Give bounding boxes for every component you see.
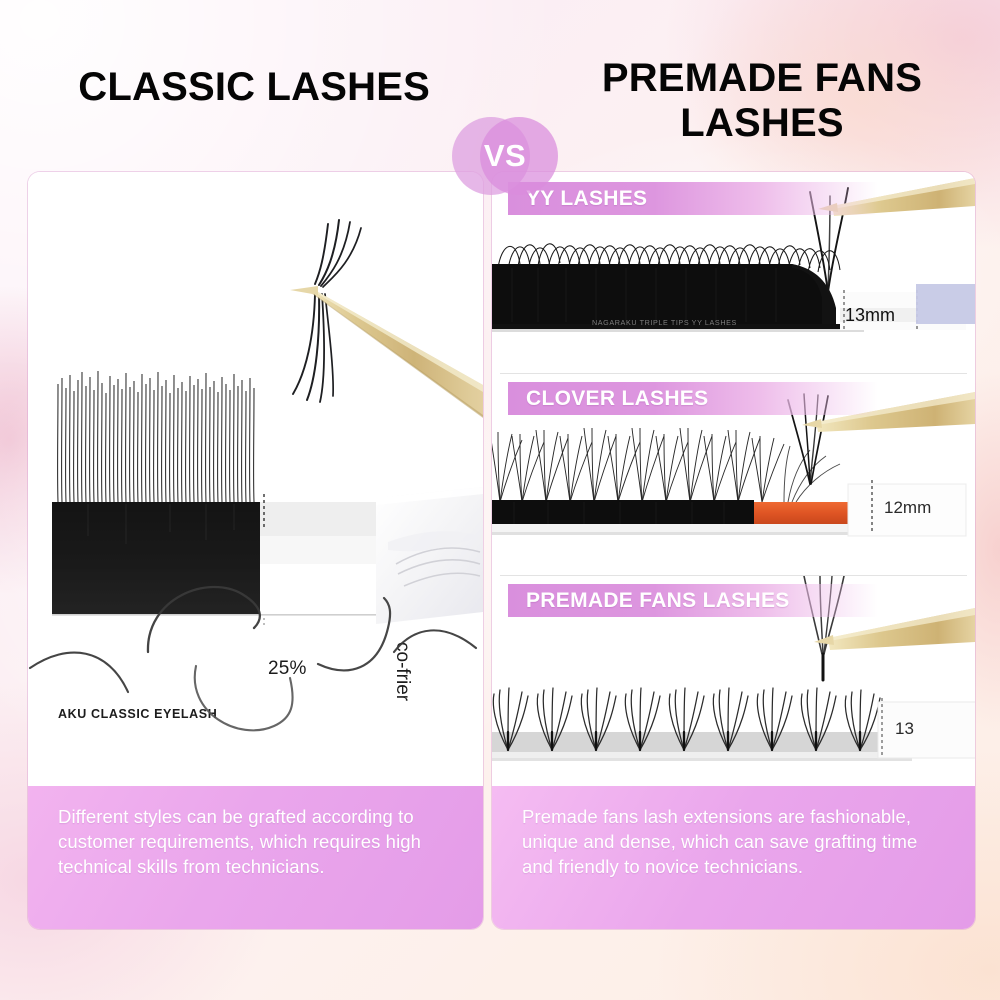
tray-brand-label: AKU CLASSIC EYELASH bbox=[58, 707, 217, 721]
premade-measure-sheet bbox=[878, 698, 975, 758]
vs-badge: VS bbox=[452, 117, 558, 195]
tweezers-with-lashes bbox=[290, 220, 483, 418]
title-premade-fans-lashes: PREMADE FANS LASHES bbox=[562, 56, 962, 146]
premade-fans-panel: NAGARAKU TRIPLE TIPS YY LASHES bbox=[492, 172, 975, 929]
classic-lash-tray bbox=[52, 371, 260, 614]
classic-lashes-photo: 25% AKU CLASSIC EYELASH co-frier bbox=[28, 172, 483, 786]
premade-strip-base bbox=[492, 732, 892, 754]
tag-clover-lashes-label: CLOVER LASHES bbox=[508, 387, 708, 411]
yy-strip-print: NAGARAKU TRIPLE TIPS YY LASHES bbox=[592, 318, 737, 327]
yy-lash-band bbox=[492, 244, 864, 332]
tag-premade-fans-lashes-label: PREMADE FANS LASHES bbox=[508, 589, 790, 613]
curved-lash-strands bbox=[28, 556, 483, 786]
clover-orange-strip bbox=[754, 502, 878, 524]
yy-measure-chip bbox=[916, 284, 975, 324]
premade-fans-card: PREMADE FANS LASHES 13 bbox=[492, 576, 975, 786]
classic-lashes-illustration bbox=[28, 172, 483, 786]
yy-measurement-label: 13mm bbox=[845, 305, 895, 326]
tag-clover-lashes: CLOVER LASHES bbox=[508, 382, 938, 415]
premade-measurement-label: 13 bbox=[895, 719, 914, 739]
premade-fans-caption: Premade fans lash extensions are fashion… bbox=[492, 786, 975, 929]
title-classic-lashes: CLASSIC LASHES bbox=[0, 66, 430, 108]
clover-lash-field bbox=[492, 428, 840, 502]
clover-base-bar bbox=[492, 500, 754, 526]
card-separator-2 bbox=[500, 575, 967, 576]
package-side-text: co-frier bbox=[391, 642, 413, 701]
classic-lashes-caption: Different styles can be grafted accordin… bbox=[28, 786, 483, 929]
tray-measure-sheet bbox=[52, 490, 378, 628]
classic-lashes-panel: 25% AKU CLASSIC EYELASH co-frier Differe… bbox=[28, 172, 483, 929]
clover-lashes-card: CLOVER LASHES 12mm bbox=[492, 374, 975, 574]
premade-fan-row bbox=[493, 688, 880, 750]
card-separator-1 bbox=[500, 373, 967, 374]
vs-badge-label: VS bbox=[452, 117, 558, 195]
clover-measurement-label: 12mm bbox=[884, 498, 931, 518]
lash-package-box bbox=[376, 487, 483, 624]
percent-label: 25% bbox=[268, 658, 307, 680]
tag-yy-lashes: YY LASHES bbox=[508, 182, 938, 215]
tag-premade-fans-lashes: PREMADE FANS LASHES bbox=[508, 584, 938, 617]
yy-lashes-card: NAGARAKU TRIPLE TIPS YY LASHES bbox=[492, 172, 975, 372]
header: CLASSIC LASHES VS PREMADE FANS LASHES bbox=[0, 52, 1000, 162]
